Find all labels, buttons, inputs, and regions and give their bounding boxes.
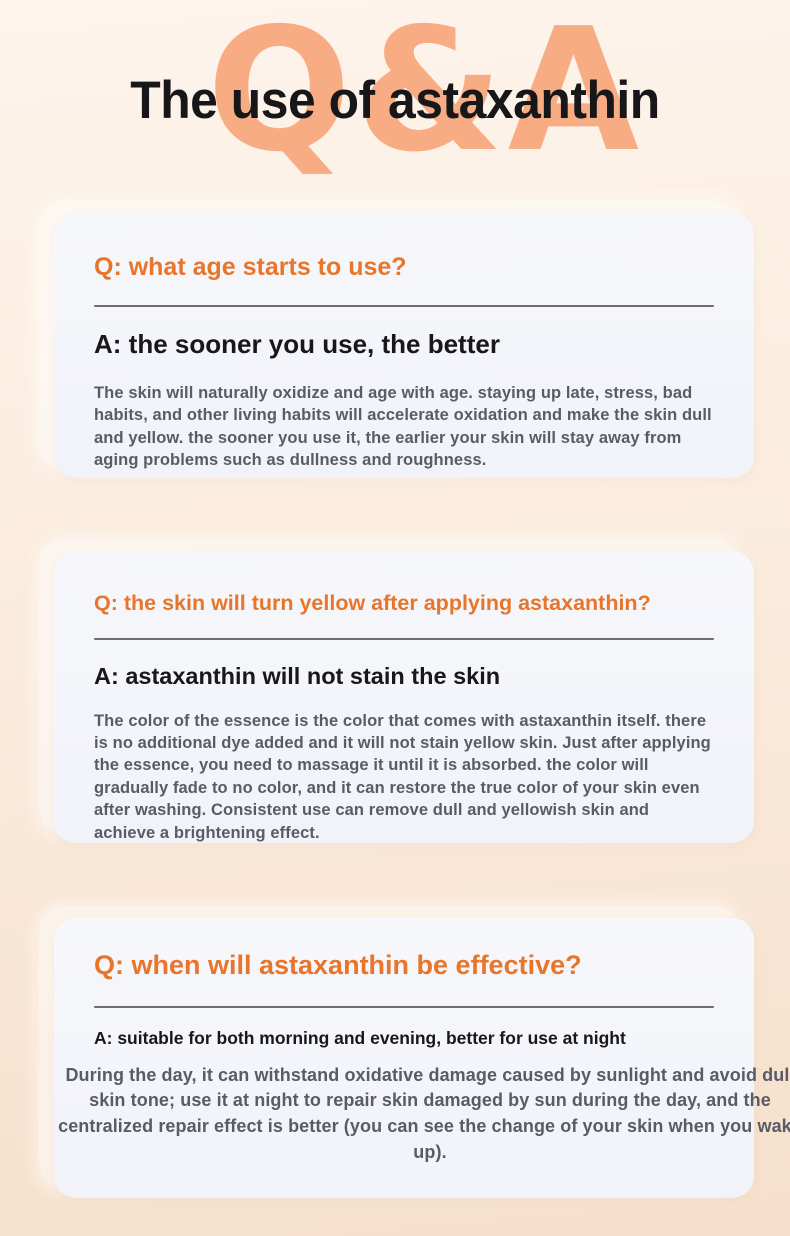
faq-answer-body: During the day, it can withstand oxidati… — [50, 1063, 790, 1165]
page-header: Q&A The use of astaxanthin — [0, 0, 790, 200]
faq-answer-headline: A: astaxanthin will not stain the skin — [94, 662, 714, 690]
faq-answer-headline: A: suitable for both morning and evening… — [94, 1028, 714, 1049]
faq-question: Q: when will astaxanthin be effective? — [94, 950, 714, 982]
faq-card-body: Q: the skin will turn yellow after apply… — [54, 551, 754, 843]
faq-card-body: Q: when will astaxanthin be effective? A… — [54, 918, 754, 1198]
faq-divider — [94, 1006, 714, 1008]
page-title: The use of astaxanthin — [24, 74, 767, 127]
faq-divider — [94, 305, 714, 307]
faq-card-2: Q: the skin will turn yellow after apply… — [54, 551, 754, 843]
faq-answer-headline: A: the sooner you use, the better — [94, 329, 714, 360]
faq-question: Q: what age starts to use? — [94, 253, 714, 283]
faq-card-body: Q: what age starts to use? A: the sooner… — [54, 213, 754, 478]
faq-answer-body: The color of the essence is the color th… — [94, 710, 714, 845]
faq-divider — [94, 638, 714, 640]
faq-card-1: Q: what age starts to use? A: the sooner… — [54, 213, 754, 478]
faq-question: Q: the skin will turn yellow after apply… — [94, 591, 714, 616]
faq-card-3: Q: when will astaxanthin be effective? A… — [54, 918, 754, 1198]
faq-answer-body: The skin will naturally oxidize and age … — [94, 382, 714, 472]
